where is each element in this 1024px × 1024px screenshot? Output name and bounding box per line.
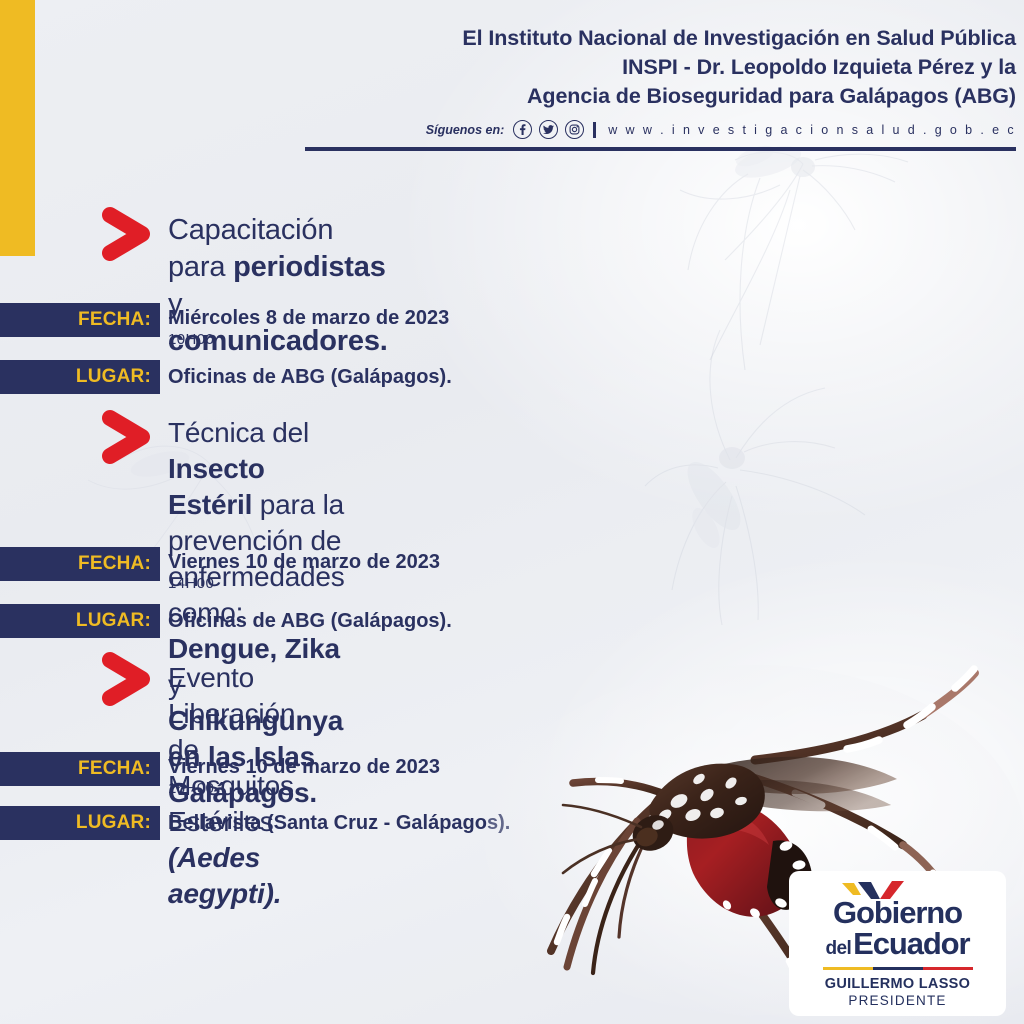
event2-fecha-label: FECHA:	[78, 553, 151, 575]
event2-fecha-tag: FECHA:	[0, 547, 160, 581]
instagram-icon[interactable]	[565, 120, 584, 139]
social-divider	[593, 122, 596, 138]
event2-fecha-value: Viernes 10 de marzo de 2023	[168, 550, 440, 575]
ghost-mosquito-watermark-middle	[640, 300, 940, 630]
event3-hora-value: 16H00	[168, 780, 214, 797]
follow-us-label: Síguenos en:	[426, 123, 504, 137]
facebook-icon[interactable]	[513, 120, 532, 139]
chevron-bullet-icon-2	[100, 408, 162, 466]
event1-fecha-value: Miércoles 8 de marzo de 2023	[168, 306, 449, 331]
gobierno-del-ecuador-logo: Gobierno del Ecuador GUILLERMO LASSO PRE…	[789, 871, 1006, 1016]
president-title: PRESIDENTE	[848, 993, 946, 1008]
logo-word-ecuador: Ecuador	[853, 928, 969, 959]
logo-word-gobierno: Gobierno	[833, 897, 962, 928]
event3-headline-line2: (Aedes aegypti).	[168, 842, 281, 909]
event1-headline-part-b: periodistas	[233, 251, 386, 283]
event1-lugar-value: Oficinas de ABG (Galápagos).	[168, 365, 452, 390]
event1-lugar-tag: LUGAR:	[0, 360, 160, 394]
event3-fecha-tag: FECHA:	[0, 752, 160, 786]
event3-lugar-tag: LUGAR:	[0, 806, 160, 840]
event3-lugar-value: Bellavista (Santa Cruz - Galápagos).	[168, 811, 510, 836]
event3-fecha-value: Viernes 10 de marzo de 2023	[168, 755, 440, 780]
event2-headline-part-c: para la	[252, 489, 344, 520]
president-name: GUILLERMO LASSO	[825, 976, 970, 992]
event3-fecha-label: FECHA:	[78, 758, 151, 780]
event2-hora-value: 14H00	[168, 575, 214, 592]
org-title-line-1: El Instituto Nacional de Investigación e…	[300, 24, 1016, 53]
twitter-icon[interactable]	[539, 120, 558, 139]
event1-lugar-label: LUGAR:	[76, 366, 151, 388]
ghost-mosquito-watermark-top	[640, 130, 930, 430]
website-url[interactable]: w w w . i n v e s t i g a c i o n s a l …	[608, 123, 1016, 137]
event2-lugar-tag: LUGAR:	[0, 604, 160, 638]
poster-canvas: El Instituto Nacional de Investigación e…	[0, 0, 1024, 1024]
left-yellow-accent-bar	[0, 0, 35, 256]
event3-lugar-label: LUGAR:	[76, 812, 151, 834]
logo-tricolor-rule	[823, 967, 973, 970]
event2-lugar-label: LUGAR:	[76, 610, 151, 632]
org-title-line-2: INSPI - Dr. Leopoldo Izquieta Pérez y la	[300, 53, 1016, 82]
event2-lugar-value: Oficinas de ABG (Galápagos).	[168, 609, 452, 634]
event2-headline-part-a: Técnica del	[168, 417, 309, 448]
org-title-line-3: Agencia de Bioseguridad para Galápagos (…	[300, 82, 1016, 111]
chevron-bullet-icon-1	[100, 205, 162, 263]
header-divider-rule	[305, 147, 1016, 151]
event2-headline-part-b: Insecto Estéril	[168, 453, 265, 520]
logo-word-del: del	[826, 934, 852, 964]
event1-hora-value: 10H00	[168, 331, 214, 348]
header: El Instituto Nacional de Investigación e…	[300, 24, 1016, 139]
event1-fecha-label: FECHA:	[78, 309, 151, 331]
event1-fecha-tag: FECHA:	[0, 303, 160, 337]
chevron-bullet-icon-3	[100, 650, 162, 708]
social-row: Síguenos en: w w w . i n v e s t i g a c…	[300, 120, 1016, 139]
